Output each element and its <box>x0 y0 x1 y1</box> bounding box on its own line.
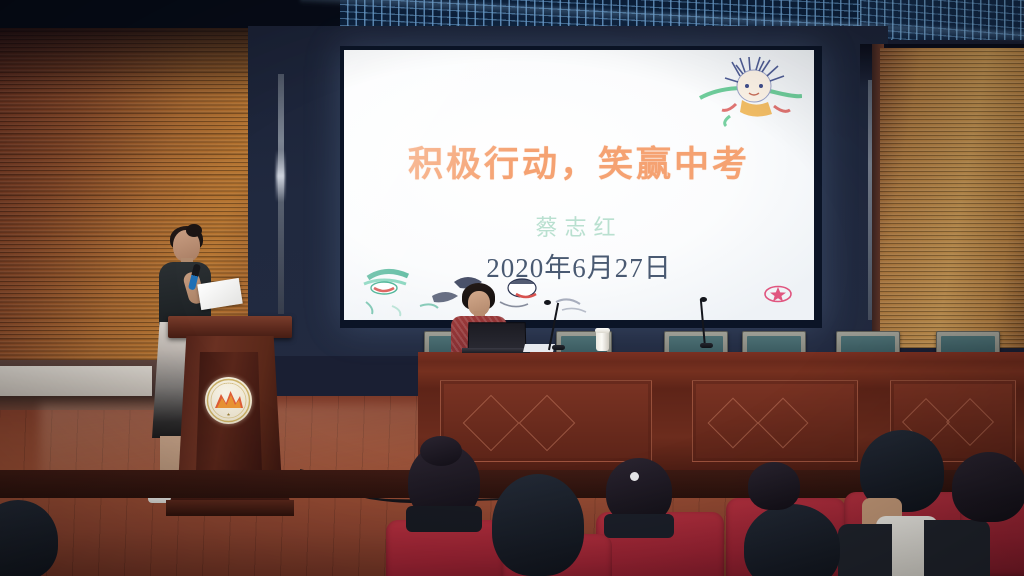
laptop <box>468 322 527 351</box>
dais-diamond-ornament <box>946 398 994 446</box>
dais-diamond-ornament <box>519 395 576 452</box>
water-cup <box>596 331 609 351</box>
dais-panel <box>692 380 858 462</box>
audience-head <box>748 462 800 510</box>
svg-text:★: ★ <box>226 412 230 418</box>
mc-hair-bun <box>186 224 202 237</box>
star-logo-icon <box>764 284 792 304</box>
microphone-head-icon <box>700 297 707 302</box>
audience-shoulders <box>838 524 892 576</box>
audience-head <box>952 452 1024 522</box>
microphone-base <box>552 345 565 350</box>
projection-screen: 积极行动，笑赢中考 蔡志红 2020年6月27日 <box>344 50 814 320</box>
microphone-base <box>700 343 713 348</box>
dais-diamond-ornament <box>708 398 759 449</box>
wall-right-metal-strip <box>868 80 872 320</box>
svg-text:· · · · ·: · · · · · <box>224 382 234 386</box>
microphone-head-icon <box>544 300 551 305</box>
podium-plinth <box>166 500 294 516</box>
water-cup-lid <box>595 328 610 333</box>
dais-panel <box>440 380 652 462</box>
dais-diamond-ornament <box>758 398 809 449</box>
auditorium-scene: 积极行动，笑赢中考 蔡志红 2020年6月27日 <box>0 0 1024 576</box>
slide-title: 积极行动，笑赢中考 <box>344 136 814 187</box>
hair-clip-icon <box>630 472 639 481</box>
wall-right-wood-slats <box>880 48 1024 348</box>
audience-shoulders <box>604 514 674 538</box>
audience-head <box>492 474 584 576</box>
podium-top <box>168 316 292 338</box>
audience-shoulders <box>406 506 482 532</box>
audience-hair-bun <box>420 436 462 466</box>
audience-shoulders <box>924 520 990 576</box>
dais-segment <box>674 352 876 474</box>
slide-presenter-name: 蔡志红 <box>344 210 814 242</box>
watercolor-birds-icon <box>350 262 650 320</box>
backdrop-trim-highlight <box>276 150 285 202</box>
wall-left-shadow <box>0 28 262 98</box>
dais-diamond-ornament <box>463 395 520 452</box>
school-crest-icon: ★ · · · · · <box>205 377 252 424</box>
laptop-base <box>462 348 530 353</box>
slide-watermark <box>558 80 738 96</box>
